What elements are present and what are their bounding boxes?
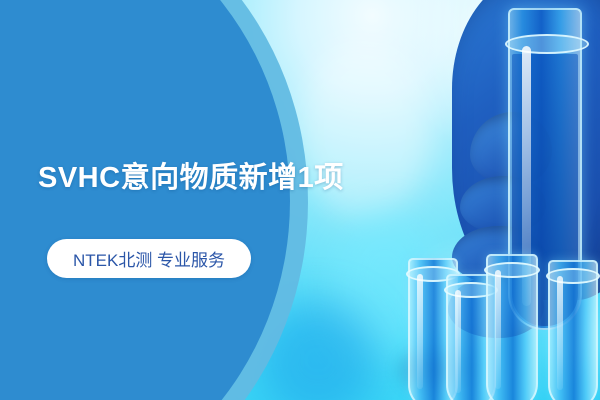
- test-tube-icon: [486, 254, 538, 400]
- status-badge: NTEK北测 专业服务: [47, 239, 251, 278]
- test-tube-highlight: [417, 274, 423, 389]
- test-tube-highlight: [557, 276, 563, 390]
- test-tube-icon: [548, 260, 598, 400]
- test-tube-highlight: [495, 270, 501, 389]
- page-title: SVHC意向物质新增1项: [38, 154, 344, 196]
- test-tube-rim: [505, 34, 589, 54]
- promo-banner: SVHC意向物质新增1项 NTEK北测 专业服务: [0, 0, 600, 400]
- test-tube-rim: [484, 262, 540, 278]
- test-tube-rim: [546, 268, 600, 284]
- blue-panel-fill: [0, 0, 150, 400]
- test-tube-highlight: [455, 290, 461, 393]
